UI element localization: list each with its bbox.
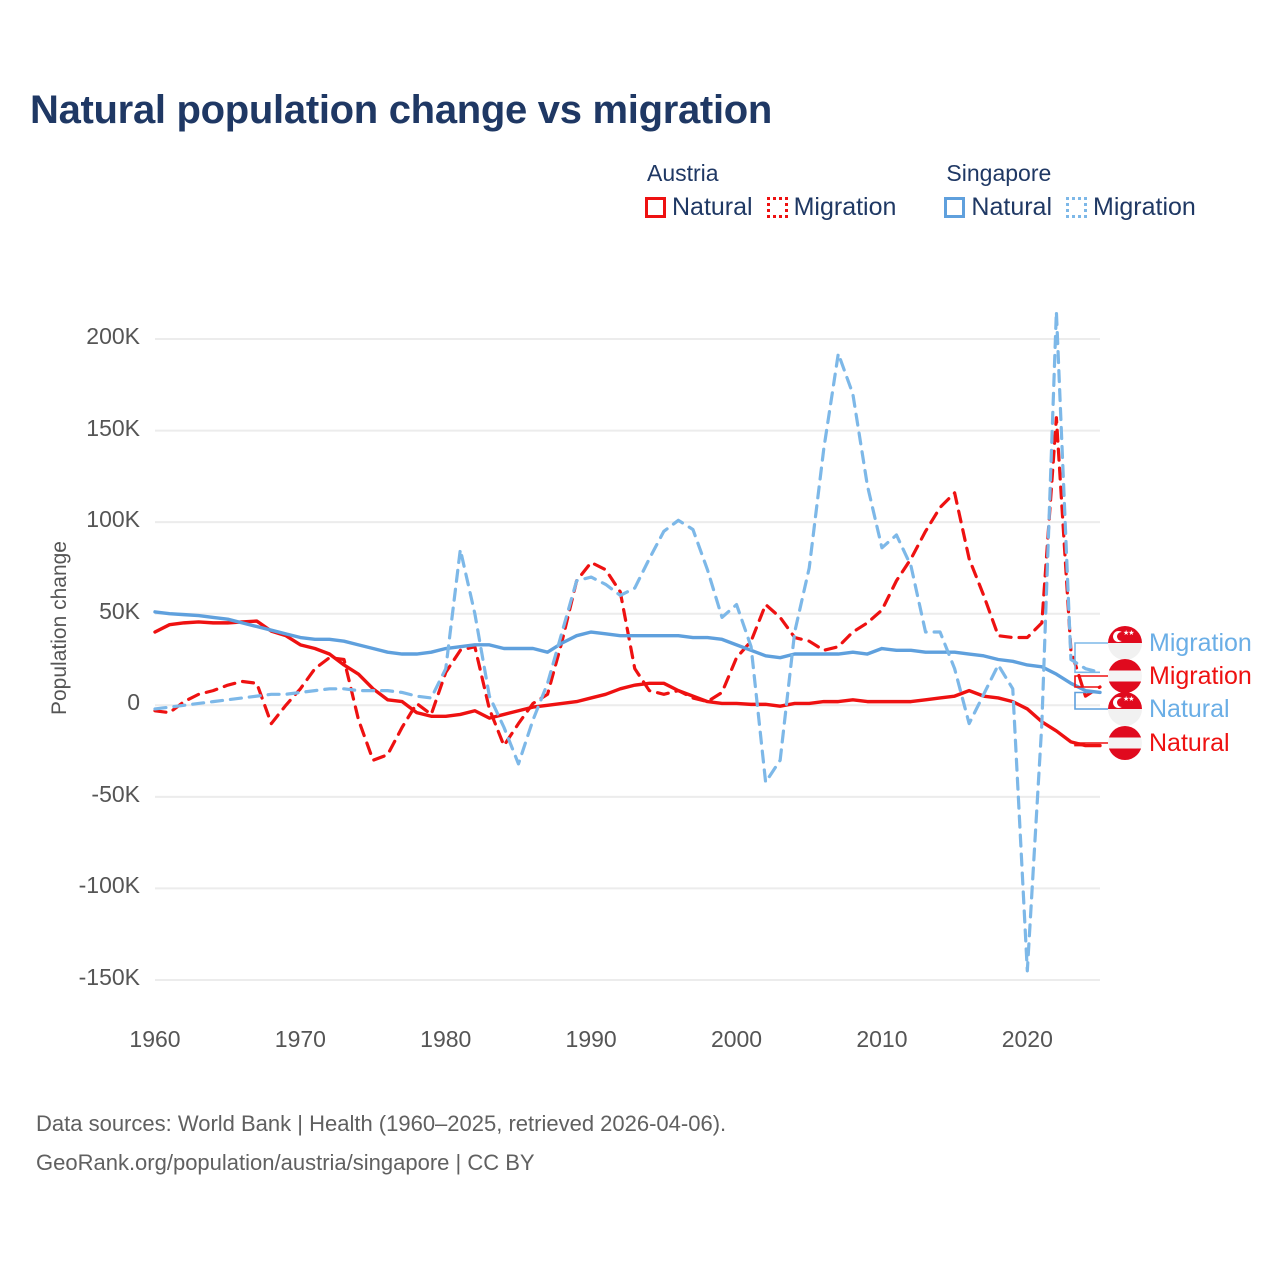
- footer-line-2: GeoRank.org/population/austria/singapore…: [36, 1144, 726, 1183]
- y-axis-tick-label: 200K: [20, 323, 140, 350]
- singapore-flag-icon: ★★: [1108, 692, 1142, 726]
- y-axis-tick-label: 100K: [20, 506, 140, 533]
- austria-flag-icon: [1108, 726, 1142, 760]
- end-label-text: Natural: [1149, 729, 1230, 758]
- series-line-austria-migration: [155, 418, 1100, 760]
- austria-flag-icon: [1108, 659, 1142, 693]
- x-axis-tick-label: 2010: [822, 1026, 942, 1053]
- footer-line-1: Data sources: World Bank | Health (1960–…: [36, 1105, 726, 1144]
- end-label-connector: [1075, 693, 1108, 710]
- y-axis-tick-label: 0: [20, 689, 140, 716]
- singapore-flag-icon: ★★: [1108, 626, 1142, 660]
- end-label-austria-natural[interactable]: Natural: [1108, 726, 1230, 760]
- chart-plot-area: Population change 200K150K100K50K0-50K-1…: [0, 0, 1280, 1280]
- end-label-text: Natural: [1149, 695, 1230, 724]
- chart-svg: [0, 0, 1280, 1280]
- x-axis-tick-label: 1960: [95, 1026, 215, 1053]
- x-axis-tick-label: 1970: [240, 1026, 360, 1053]
- y-axis-tick-label: 150K: [20, 415, 140, 442]
- y-axis-tick-label: -50K: [20, 781, 140, 808]
- x-axis-tick-label: 2000: [677, 1026, 797, 1053]
- y-axis-tick-label: -100K: [20, 872, 140, 899]
- footer-credits: Data sources: World Bank | Health (1960–…: [36, 1105, 726, 1182]
- end-label-austria-migration[interactable]: Migration: [1108, 659, 1252, 693]
- y-axis-tick-label: -150K: [20, 964, 140, 991]
- x-axis-tick-label: 1990: [531, 1026, 651, 1053]
- x-axis-tick-label: 2020: [967, 1026, 1087, 1053]
- end-label-singapore-migration[interactable]: ★★Migration: [1108, 626, 1252, 660]
- x-axis-tick-label: 1980: [386, 1026, 506, 1053]
- stars-icon: ★★: [1123, 697, 1134, 703]
- stars-icon: ★★: [1123, 631, 1134, 637]
- end-label-text: Migration: [1149, 662, 1252, 691]
- end-label-text: Migration: [1149, 629, 1252, 658]
- end-label-singapore-natural[interactable]: ★★Natural: [1108, 692, 1230, 726]
- y-axis-tick-label: 50K: [20, 598, 140, 625]
- end-label-connector: [1075, 643, 1108, 672]
